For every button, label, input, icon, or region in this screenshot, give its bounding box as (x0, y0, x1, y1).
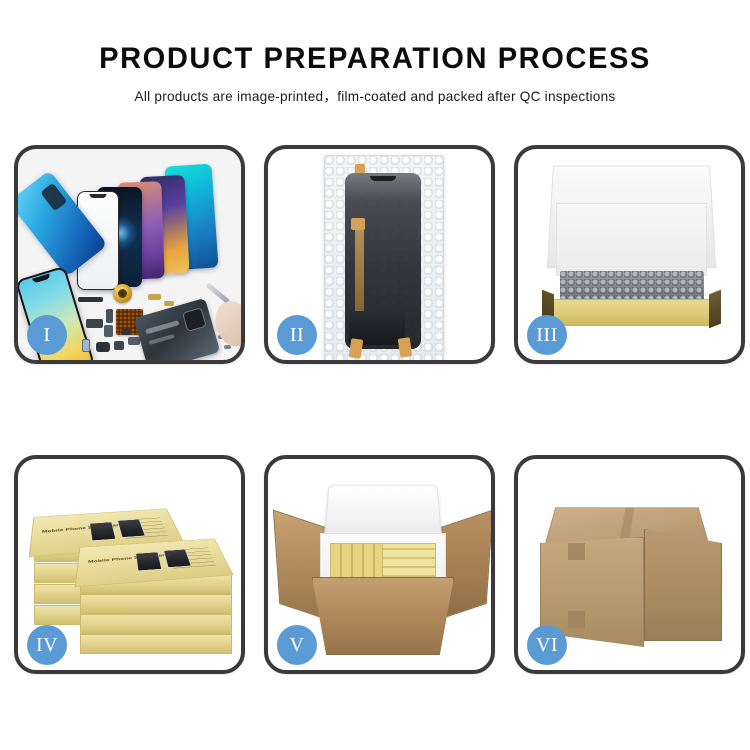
stacked-box-slab (80, 634, 232, 654)
step-numeral-badge: V (277, 625, 317, 665)
process-step-grid: I II (14, 145, 745, 674)
spare-part (106, 309, 113, 323)
housing-detail (145, 320, 179, 334)
foam-liner (556, 203, 707, 276)
page-title: PRODUCT PREPARATION PROCESS (11, 42, 739, 76)
spare-part (128, 337, 140, 345)
step-numeral-badge: II (277, 315, 317, 355)
stacked-box-slab (80, 594, 232, 614)
step-numeral-badge: IV (27, 625, 67, 665)
kraft-box-front-panel (548, 299, 715, 326)
step-numeral-badge: I (27, 315, 67, 355)
carton-body (312, 577, 454, 655)
speaker-coil-part (113, 284, 132, 303)
spare-part (114, 341, 124, 350)
spare-part (164, 301, 174, 306)
adhesive-tape (398, 337, 413, 357)
spare-part (96, 342, 110, 352)
spare-part (82, 339, 90, 352)
step-numeral-badge: III (527, 315, 567, 355)
stacked-box-slab (80, 614, 232, 634)
process-step-5: V (264, 455, 495, 674)
adhesive-tape (351, 218, 365, 230)
spare-part (121, 329, 131, 335)
process-step-4: Mobile Phone Spare Parts Mobile Phone Sp… (14, 455, 245, 674)
carton-tab (568, 611, 585, 628)
spare-part (104, 325, 113, 337)
product-preparation-infographic: PRODUCT PREPARATION PROCESS All products… (0, 0, 750, 750)
process-step-6: VI (514, 455, 745, 674)
phone-back-housing (134, 298, 221, 360)
step-numeral-badge: VI (527, 625, 567, 665)
bubble-wrap-bag (324, 155, 444, 360)
kraft-box-right-edge (709, 290, 721, 329)
flex-cable (355, 218, 364, 314)
spare-part (78, 297, 103, 302)
adhesive-tape (349, 338, 364, 358)
process-step-1: I (14, 145, 245, 364)
carton-side-face (644, 529, 722, 641)
spare-part (86, 319, 103, 328)
process-step-2: II (264, 145, 495, 364)
carton-tab (568, 543, 585, 560)
page-subtitle: All products are image-printed，film-coat… (0, 85, 750, 105)
grey-bubble-wrap-layer (560, 271, 704, 301)
housing-detail (149, 334, 175, 345)
header: PRODUCT PREPARATION PROCESS All products… (0, 0, 750, 105)
process-step-3: III (514, 145, 745, 364)
spare-part (148, 294, 161, 300)
camera-module-icon (182, 307, 207, 332)
adhesive-tape (355, 164, 365, 173)
